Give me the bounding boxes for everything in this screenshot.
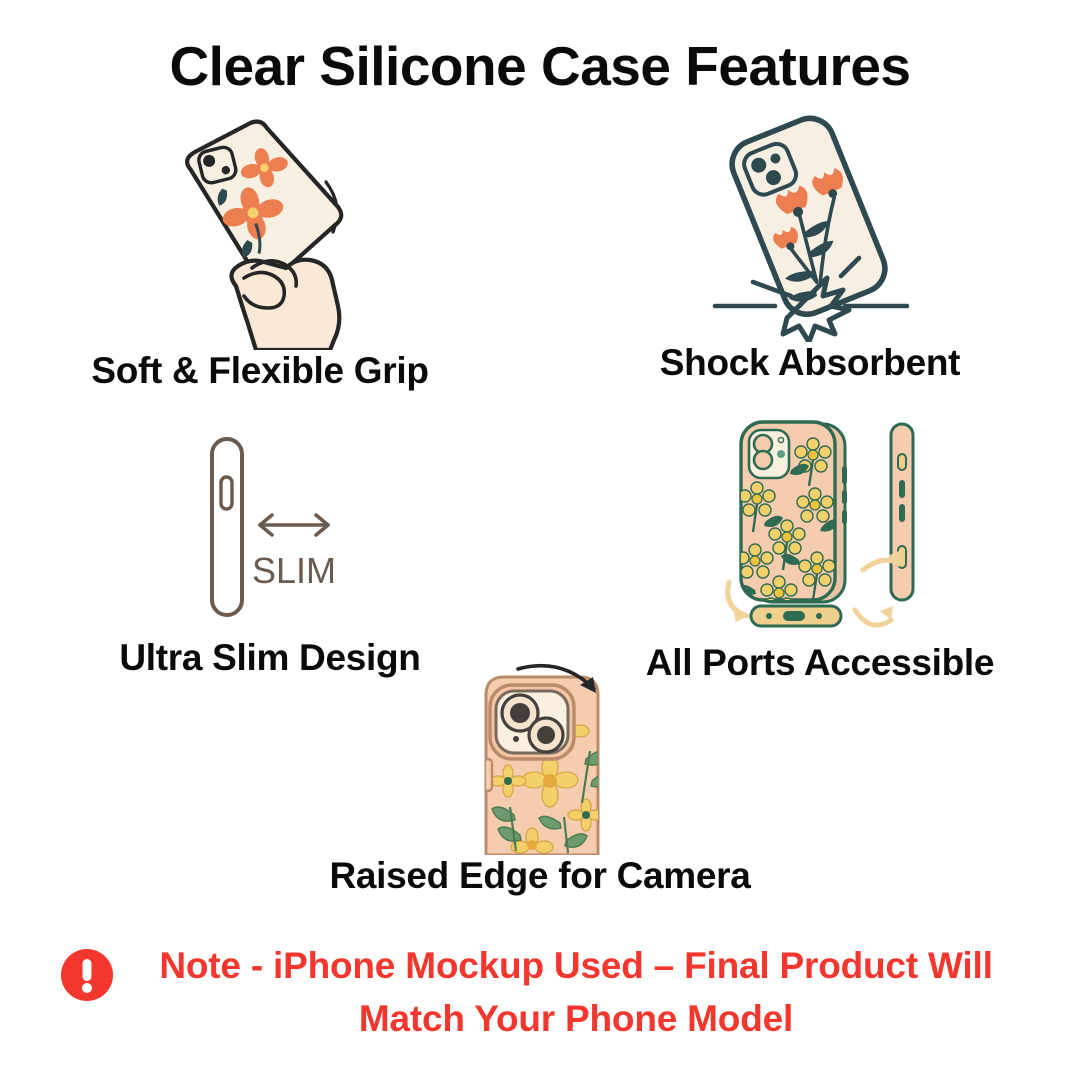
note-text: Note - iPhone Mockup Used – Final Produc…	[132, 940, 1020, 1045]
hand-holding-flexing-phone-case-icon	[30, 118, 490, 350]
feature-label: Soft & Flexible Grip	[30, 350, 490, 392]
page-title: Clear Silicone Case Features	[0, 34, 1080, 98]
feature-soft-flexible-grip: Soft & Flexible Grip	[30, 118, 490, 392]
phone-case-ports-cutouts-icon	[610, 410, 1030, 642]
feature-raised-edge-camera: Raised Edge for Camera	[280, 655, 800, 897]
feature-shock-absorbent: Shock Absorbent	[600, 110, 1020, 384]
feature-label: Raised Edge for Camera	[280, 855, 800, 897]
feature-label: Shock Absorbent	[600, 342, 1020, 384]
note-banner: Note - iPhone Mockup Used – Final Produc…	[0, 940, 1080, 1045]
feature-all-ports-accessible: All Ports Accessible	[610, 410, 1030, 684]
feature-ultra-slim-design: SLIM Ultra Slim Design	[50, 415, 490, 679]
exclamation-circle-icon	[60, 948, 114, 1007]
phone-side-profile-slim-icon: SLIM	[50, 415, 490, 637]
phone-drop-impact-icon	[600, 110, 1020, 342]
camera-bump-raised-lip-icon	[280, 655, 800, 855]
slim-annotation-text: SLIM	[252, 550, 336, 591]
infographic-page: Clear Silicone Case Features	[0, 0, 1080, 1080]
